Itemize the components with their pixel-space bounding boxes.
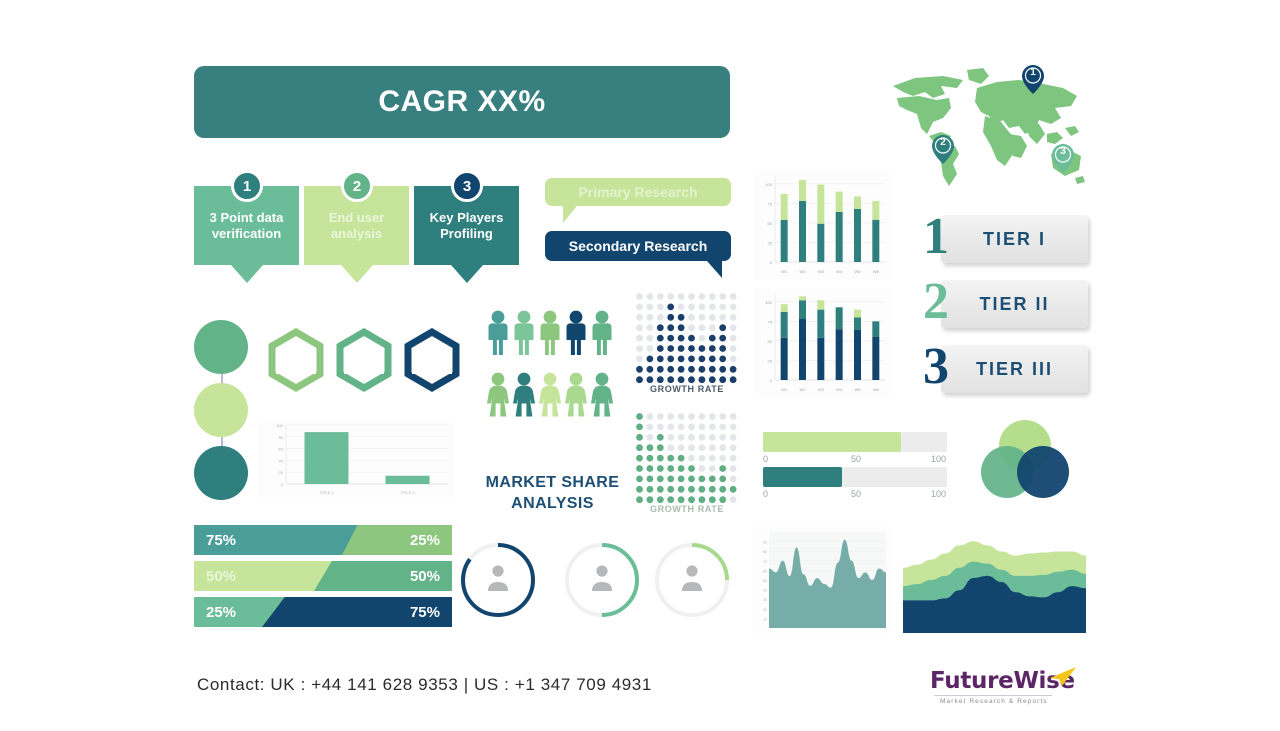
cagr-banner: CAGR XX%	[194, 66, 730, 138]
percent-bar-row-3-right-value: 75%	[410, 604, 440, 621]
percent-bar-row-3: 25% 75%	[194, 597, 440, 627]
hexagon-group-svg	[264, 328, 464, 400]
contact-line: Contact: UK : +44 141 628 9353 | US : +1…	[197, 675, 652, 695]
svg-text:W4: W4	[836, 269, 843, 274]
svg-text:W5: W5	[855, 387, 862, 392]
tier-label-2: TIER II	[979, 294, 1049, 315]
area-chart-stacked-svg	[903, 527, 1086, 633]
tier-row-1[interactable]: TIER I 1	[913, 215, 1088, 265]
step-badge-3-number: 3	[463, 178, 471, 195]
market-share-caption: MARKET SHARE ANALYSIS	[470, 472, 635, 514]
cagr-banner-title: CAGR XX%	[378, 85, 545, 119]
percent-bar-row-1-left-value: 75%	[206, 532, 236, 549]
secondary-research-label: Secondary Research	[545, 238, 731, 254]
svg-text:0: 0	[770, 260, 773, 265]
step-card-2-label: End user analysis	[304, 210, 409, 242]
growth-rate-matrix-top: GROWTH RATE	[635, 292, 739, 402]
growth-rate-label-bottom: GROWTH RATE	[635, 504, 739, 514]
svg-text:50: 50	[768, 339, 773, 344]
svg-text:W2: W2	[800, 387, 807, 392]
percent-bar-row-1-right-value: 25%	[410, 532, 440, 549]
percent-bar-row-3-left-value: 25%	[206, 604, 236, 621]
svg-text:20: 20	[279, 470, 284, 475]
svg-text:60: 60	[279, 447, 284, 452]
percent-bar-row-3-right: 75%	[262, 597, 452, 627]
svg-text:0: 0	[770, 378, 773, 383]
svg-text:60: 60	[763, 569, 767, 573]
growth-rate-matrix-bottom-svg	[635, 412, 739, 504]
slider-2-scale-mid: 50	[851, 489, 861, 499]
logo-divider	[934, 695, 1052, 696]
tier-number-2: 2	[913, 272, 959, 332]
circles-column	[194, 320, 250, 500]
simple-bar-chart: 020406080100TITLE 1TITLE 2	[258, 420, 454, 498]
slider-2-fill	[763, 467, 842, 487]
people-group-svg	[487, 310, 617, 440]
circle-node-2[interactable]	[194, 383, 248, 437]
svg-text:90: 90	[763, 541, 767, 545]
svg-text:80: 80	[763, 550, 767, 554]
map-pin-1-number: 1	[1022, 67, 1044, 78]
stacked-bar-chart-top: 0255075100W1W2W3W4W5W6	[753, 170, 891, 280]
map-pin-2-number: 2	[932, 137, 954, 148]
growth-rate-matrix-bottom: GROWTH RATE	[635, 412, 739, 522]
primary-research-bubble-tail	[563, 206, 577, 223]
primary-research-label: Primary Research	[545, 184, 731, 200]
svg-text:40: 40	[763, 589, 767, 593]
step-card-1[interactable]: 1 3 Point data verification	[194, 170, 299, 265]
venn-circle-3	[1017, 446, 1069, 498]
donut-group-svg	[460, 540, 750, 620]
step-card-2-tail	[341, 265, 373, 283]
svg-text:W1: W1	[781, 269, 788, 274]
growth-rate-label-top: GROWTH RATE	[635, 384, 739, 394]
tier-row-3[interactable]: TIER III 3	[913, 345, 1088, 395]
area-chart-single: 102030405060708090	[752, 527, 890, 633]
tier-plate-2: TIER II	[941, 280, 1088, 328]
circle-node-3[interactable]	[194, 446, 248, 500]
map-pin-1[interactable]: 1	[1022, 65, 1044, 94]
svg-text:W6: W6	[873, 269, 880, 274]
map-pin-2[interactable]: 2	[932, 135, 954, 164]
tier-number-1: 1	[913, 207, 959, 267]
svg-text:50: 50	[768, 221, 773, 226]
simple-bar-chart-svg: 020406080100TITLE 1TITLE 2	[258, 420, 454, 498]
percent-bar-row-1-right: 25%	[342, 525, 452, 555]
svg-text:25: 25	[768, 240, 773, 245]
step-card-3-tail	[451, 265, 483, 283]
svg-text:100: 100	[765, 300, 772, 305]
area-chart-stacked	[903, 527, 1086, 633]
percent-bar-row-2-right: 50%	[314, 561, 452, 591]
svg-text:100: 100	[765, 182, 772, 187]
step-badge-1: 1	[231, 170, 263, 202]
svg-text:W3: W3	[818, 269, 825, 274]
slider-1-scale-mid: 50	[851, 454, 861, 464]
svg-text:10: 10	[763, 617, 767, 621]
svg-text:TITLE 1: TITLE 1	[319, 490, 334, 495]
svg-text:75: 75	[768, 319, 773, 324]
svg-text:W4: W4	[836, 387, 843, 392]
svg-text:25: 25	[768, 358, 773, 363]
venn-diagram	[978, 420, 1072, 500]
step-badge-1-number: 1	[243, 178, 251, 195]
percent-bar-row-2: 50% 50%	[194, 561, 440, 591]
slider-1-scale-max: 100	[931, 454, 946, 464]
step-card-2[interactable]: 2 End user analysis	[304, 170, 409, 265]
logo-arrow-icon	[1048, 666, 1078, 688]
step-card-1-tail	[231, 265, 263, 283]
svg-text:W6: W6	[873, 387, 880, 392]
map-pin-3-number: 3	[1052, 146, 1074, 157]
market-share-caption-text: MARKET SHARE ANALYSIS	[486, 474, 620, 512]
growth-rate-matrix-top-svg	[635, 292, 739, 384]
venn-diagram-svg	[978, 420, 1072, 500]
tier-plate-3: TIER III	[941, 345, 1088, 393]
secondary-research-bubble[interactable]: Secondary Research	[545, 231, 731, 261]
tier-label-1: TIER I	[983, 229, 1046, 250]
tier-plate-1: TIER I	[941, 215, 1088, 263]
svg-text:80: 80	[279, 435, 284, 440]
step-card-3-label: Key Players Profiling	[414, 210, 519, 242]
secondary-research-bubble-tail	[707, 261, 722, 278]
svg-text:W3: W3	[818, 387, 825, 392]
step-badge-3: 3	[451, 170, 483, 202]
slider-1[interactable]: 0 50 100	[763, 432, 947, 458]
svg-text:70: 70	[763, 560, 767, 564]
slider-1-scale-min: 0	[763, 454, 768, 464]
logo-tagline: Market Research & Reports	[940, 698, 1048, 705]
svg-text:TITLE 2: TITLE 2	[400, 490, 415, 495]
svg-text:W1: W1	[781, 387, 788, 392]
infographic-canvas: CAGR XX% 1 3 Point data verification 2 E…	[0, 0, 1280, 731]
hexagon-group	[264, 328, 464, 400]
world-map: 1 2 3	[885, 62, 1090, 194]
circle-node-1[interactable]	[194, 320, 248, 374]
futurewise-logo[interactable]: FutureWise Market Research & Reports	[930, 668, 1080, 712]
stacked-bar-chart-bottom: 0255075100W1W2W3W4W5W6	[753, 288, 891, 398]
slider-2[interactable]: 0 50 100	[763, 467, 947, 493]
svg-text:40: 40	[279, 458, 284, 463]
step-badge-2: 2	[341, 170, 373, 202]
percent-bar-row-2-left-value: 50%	[206, 568, 236, 585]
tier-row-2[interactable]: TIER II 2	[913, 280, 1088, 330]
slider-2-scale-max: 100	[931, 489, 946, 499]
percent-bar-row-1: 75% 25%	[194, 525, 440, 555]
tier-label-3: TIER III	[976, 359, 1053, 380]
svg-text:20: 20	[763, 608, 767, 612]
step-card-3[interactable]: 3 Key Players Profiling	[414, 170, 519, 265]
stacked-bar-chart-top-svg: 0255075100W1W2W3W4W5W6	[753, 170, 891, 280]
svg-text:30: 30	[763, 598, 767, 602]
slider-1-fill	[763, 432, 901, 452]
area-chart-single-svg: 102030405060708090	[752, 527, 890, 633]
svg-text:100: 100	[276, 423, 283, 428]
people-group	[487, 310, 617, 440]
world-map-svg	[885, 62, 1090, 194]
svg-text:W2: W2	[800, 269, 807, 274]
svg-text:50: 50	[763, 579, 767, 583]
svg-text:0: 0	[281, 482, 284, 487]
primary-research-bubble[interactable]: Primary Research	[545, 178, 731, 206]
slider-2-scale-min: 0	[763, 489, 768, 499]
donut-group	[460, 540, 750, 620]
map-pin-3[interactable]: 3	[1052, 144, 1074, 173]
svg-text:75: 75	[768, 201, 773, 206]
svg-text:W5: W5	[855, 269, 862, 274]
step-card-1-label: 3 Point data verification	[194, 210, 299, 242]
percent-bar-row-2-right-value: 50%	[410, 568, 440, 585]
step-badge-2-number: 2	[353, 178, 361, 195]
tier-number-3: 3	[913, 337, 959, 397]
stacked-bar-chart-bottom-svg: 0255075100W1W2W3W4W5W6	[753, 288, 891, 398]
